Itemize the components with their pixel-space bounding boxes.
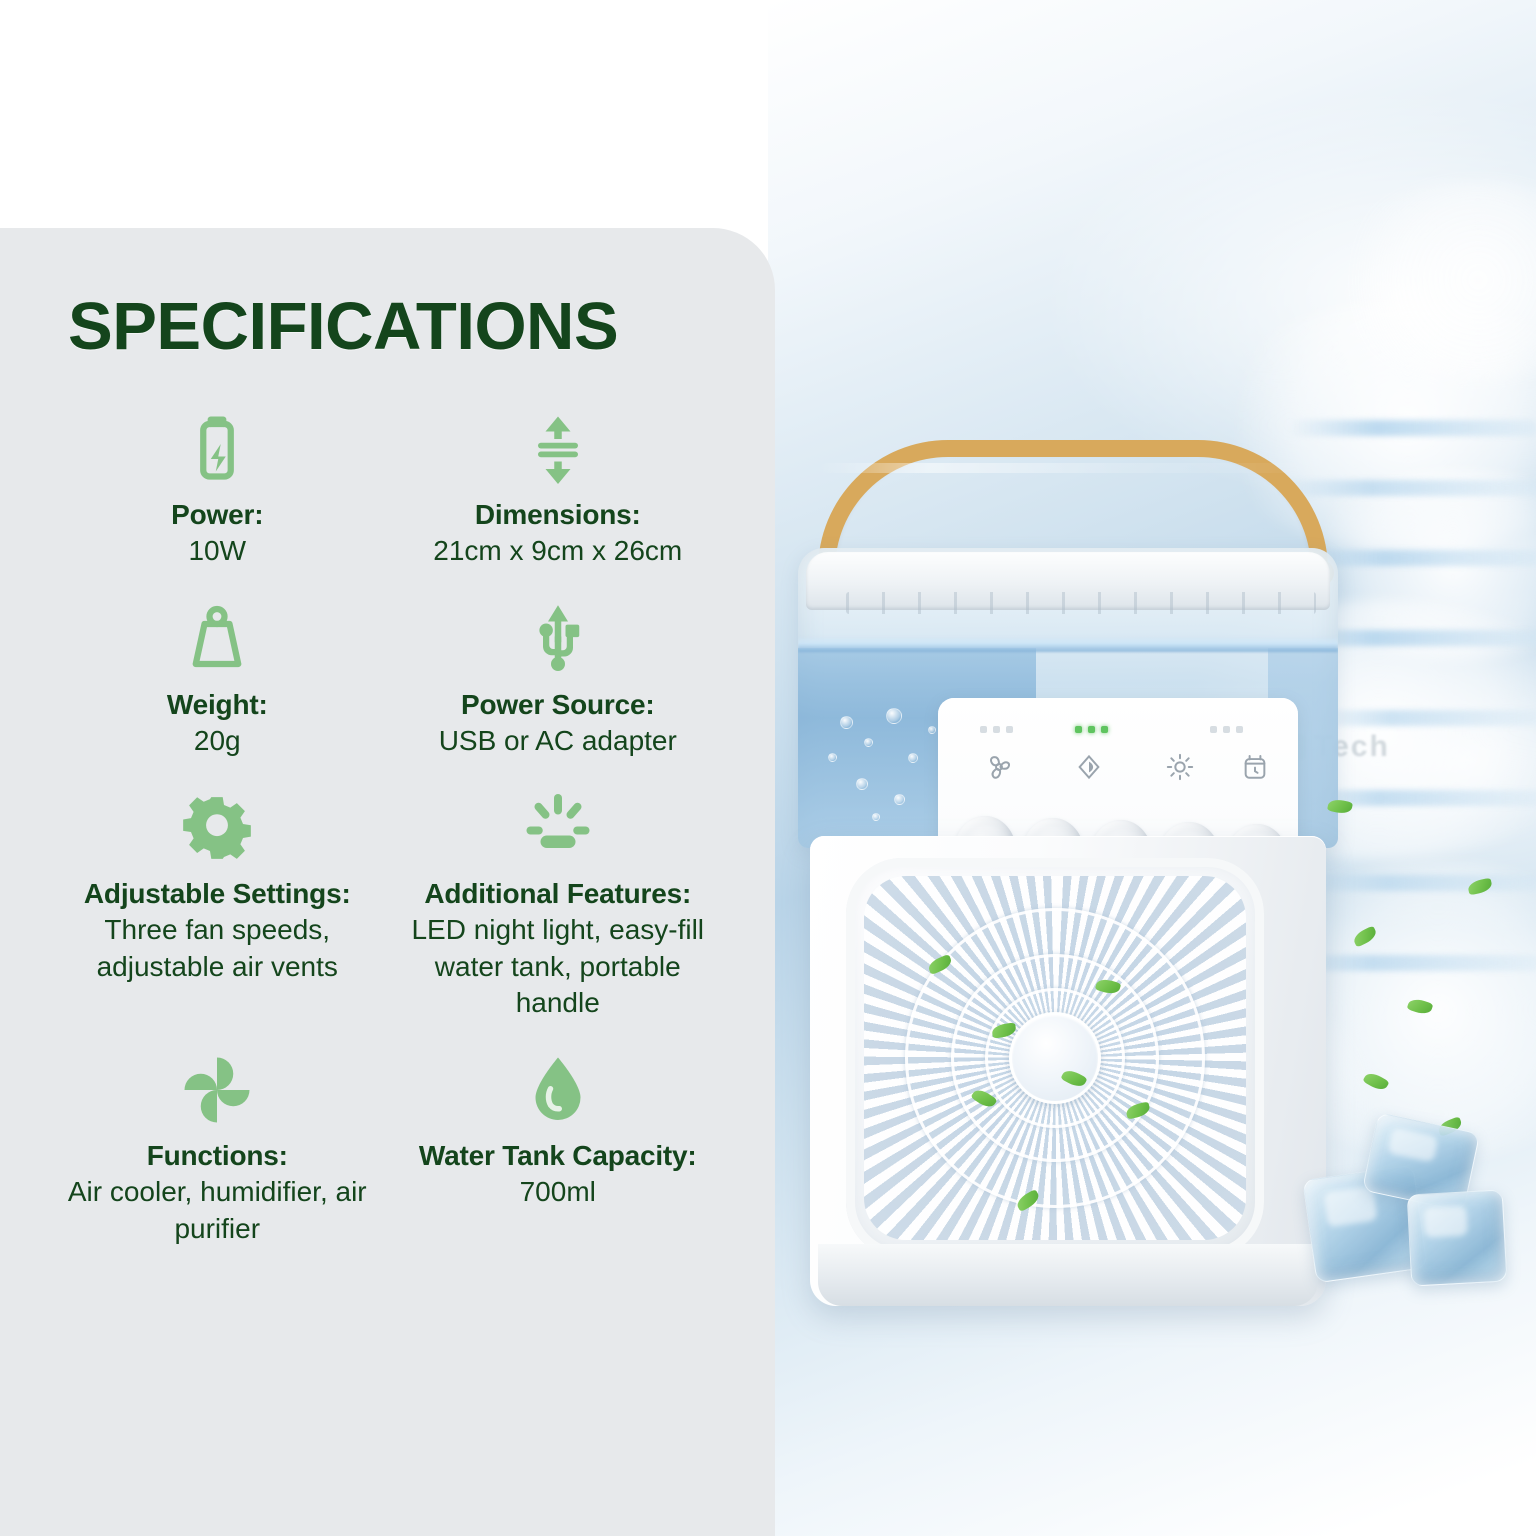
spec-value: LED night light, easy-fill water tank, p… xyxy=(408,912,708,1021)
water-tank xyxy=(798,548,1338,848)
bubble xyxy=(872,813,880,821)
spec-label: Power: xyxy=(171,498,263,531)
water-droplet-icon xyxy=(515,1047,601,1133)
air-cooler-unit xyxy=(788,440,1348,1320)
fan-hub xyxy=(1009,1012,1101,1104)
fan-speed-leds xyxy=(980,726,1013,733)
ice-cube xyxy=(1407,1190,1508,1287)
tank-lid-vents xyxy=(846,592,1316,614)
timer-icon[interactable] xyxy=(1238,750,1272,784)
bubble xyxy=(886,708,902,724)
spec-value: USB or AC adapter xyxy=(439,723,677,759)
spec-value: 21cm x 9cm x 26cm xyxy=(433,533,682,569)
mist-leds xyxy=(1075,726,1108,733)
specs-grid: Power: 10W Dimensions: 21cm x 9cm x 26cm xyxy=(52,406,723,1247)
spec-item-weight: Weight: 20g xyxy=(52,596,383,759)
spec-value: Air cooler, humidifier, air purifier xyxy=(67,1174,367,1247)
water-surface xyxy=(798,636,1338,652)
spec-item-water-tank-capacity: Water Tank Capacity: 700ml xyxy=(393,1047,724,1247)
cooler-base xyxy=(818,1244,1318,1306)
bubble xyxy=(864,738,873,747)
dimensions-arrows-icon xyxy=(515,406,601,492)
gear-icon xyxy=(174,785,260,871)
bubble xyxy=(908,753,918,763)
spec-item-additional-features: Additional Features: LED night light, ea… xyxy=(393,785,724,1021)
spec-item-functions: Functions: Air cooler, humidifier, air p… xyxy=(52,1047,383,1247)
spec-label: Adjustable Settings: xyxy=(84,877,351,910)
bubble xyxy=(856,778,868,790)
spec-label: Weight: xyxy=(167,688,268,721)
product-photo: Tech xyxy=(768,0,1536,1536)
bubble xyxy=(840,716,853,729)
spec-item-power: Power: 10W xyxy=(52,406,383,569)
spec-value: 20g xyxy=(194,723,241,759)
fan-grille-area xyxy=(864,876,1246,1240)
spec-label: Dimensions: xyxy=(475,498,641,531)
specifications-card: SPECIFICATIONS Power: 10W xyxy=(0,228,775,1536)
ice-cubes xyxy=(1273,1120,1523,1350)
control-panel[interactable] xyxy=(938,698,1298,848)
infographic-canvas: Tech xyxy=(0,0,1536,1536)
bubble xyxy=(894,794,905,805)
spec-label: Water Tank Capacity: xyxy=(419,1139,697,1172)
weight-icon xyxy=(174,596,260,682)
spec-label: Functions: xyxy=(147,1139,288,1172)
timer-leds xyxy=(1210,726,1243,733)
mist-droplet-icon[interactable] xyxy=(1072,750,1106,784)
bubble xyxy=(928,726,936,734)
page-title: SPECIFICATIONS xyxy=(68,292,723,362)
spec-item-adjustable-settings: Adjustable Settings: Three fan speeds, a… xyxy=(52,785,383,1021)
cooler-body xyxy=(810,836,1326,1306)
spec-item-dimensions: Dimensions: 21cm x 9cm x 26cm xyxy=(393,406,724,569)
spec-label: Power Source: xyxy=(461,688,654,721)
spec-item-power-source: Power Source: USB or AC adapter xyxy=(393,596,724,759)
light-rays-icon xyxy=(515,785,601,871)
fan-frame xyxy=(846,858,1264,1258)
bubble xyxy=(828,753,837,762)
usb-icon xyxy=(515,596,601,682)
spec-value: Three fan speeds, adjustable air vents xyxy=(67,912,367,985)
spec-value: 10W xyxy=(188,533,246,569)
tank-lid xyxy=(806,552,1330,610)
light-bulb-icon[interactable] xyxy=(1163,750,1197,784)
fan-icon[interactable] xyxy=(982,750,1016,784)
battery-charging-icon xyxy=(174,406,260,492)
control-panel-icons xyxy=(938,750,1298,796)
led-indicators xyxy=(938,726,1298,738)
spec-value: 700ml xyxy=(520,1174,596,1210)
pinwheel-fan-icon xyxy=(174,1047,260,1133)
spec-label: Additional Features: xyxy=(424,877,691,910)
